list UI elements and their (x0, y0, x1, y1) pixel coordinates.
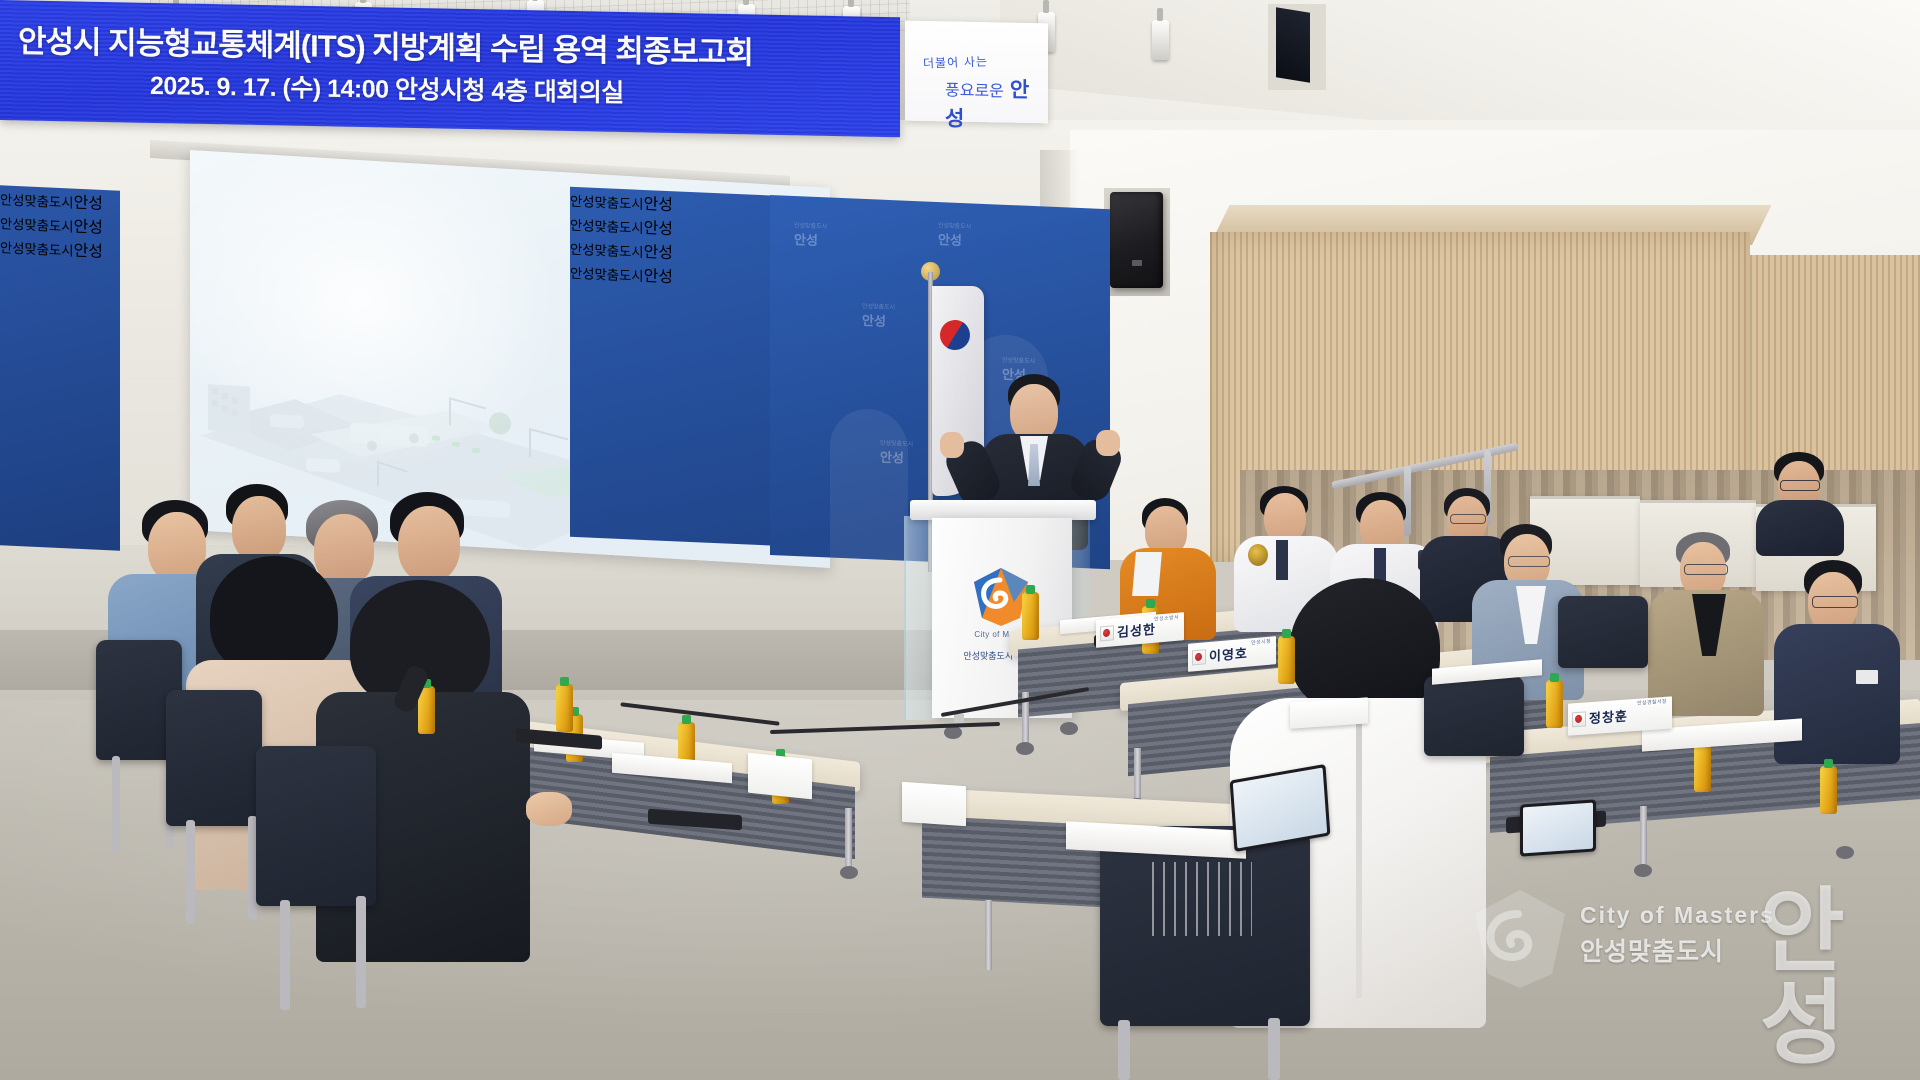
tablet-device (1520, 799, 1596, 856)
juice-bottle (1820, 766, 1837, 814)
chair (256, 746, 376, 906)
attendee-hair (210, 556, 338, 676)
track-light (1152, 20, 1169, 60)
chair-leg (356, 896, 366, 1008)
eyeglasses-icon (1450, 514, 1486, 524)
nameplate-role: 안성경찰서장 (1637, 698, 1667, 707)
podium-caster (944, 726, 962, 739)
chair-leg (186, 820, 195, 924)
backdrop-panel-left: 안성맞춤도시안성 안성맞춤도시안성 안성맞춤도시안성 (0, 185, 120, 550)
event-banner: 안성시 지능형교통체계(ITS) 지방계획 수립 용역 최종보고회 2025. … (0, 0, 900, 137)
wall-recess (1268, 4, 1326, 90)
table-caster (1836, 846, 1854, 859)
table-caster (840, 866, 858, 879)
nameplate-blank (902, 782, 966, 826)
juice-bottle (1278, 636, 1295, 684)
wall-speaker-icon (1110, 192, 1163, 288)
police-tie (1276, 540, 1288, 580)
banner-title: 안성시 지능형교통체계(ITS) 지방계획 수립 용역 최종보고회 (18, 16, 878, 75)
juice-bottle (556, 684, 573, 732)
police-badge-icon (1248, 544, 1268, 566)
chair-leg (112, 756, 120, 852)
juice-bottle (1694, 744, 1711, 792)
eyeglasses-icon (1780, 480, 1820, 491)
table-caster (1634, 864, 1652, 877)
slogan-line1: 더불어 사는 (923, 53, 989, 72)
table-leg (1640, 806, 1647, 870)
chair-leg (1268, 1018, 1280, 1080)
banner-subtitle: 2025. 9. 17. (수) 14:00 안성시청 4층 대회의실 (150, 66, 870, 113)
chair-right (1558, 596, 1648, 668)
podium-top-surface (910, 500, 1096, 520)
slogan-line2: 풍요로운 (945, 80, 1004, 100)
table-leg (1134, 748, 1141, 804)
attendee-hair (1290, 578, 1440, 714)
nameplate-name: 이영호 (1209, 646, 1248, 662)
juice-bottle (1546, 680, 1563, 728)
id-badge (1856, 670, 1878, 684)
chair (166, 690, 262, 826)
attendee-hand (526, 792, 572, 826)
juice-bottle (1022, 592, 1039, 640)
nameplate-role: 안성소방서 (1154, 614, 1179, 623)
chair-stripes (1152, 862, 1252, 936)
eyeglasses-icon (1684, 564, 1728, 575)
nameplate-blank (748, 753, 812, 800)
presenter-left-hand (940, 432, 964, 458)
emblem-icon (1100, 625, 1114, 641)
conference-photo: 안성시 지능형교통체계(ITS) 지방계획 수립 용역 최종보고회 2025. … (0, 0, 1920, 1080)
city-slogan-panel: 더불어 사는 풍요로운안성 (905, 21, 1048, 124)
table-leg (985, 900, 992, 970)
chair-leg (280, 900, 290, 1010)
presenter-right-hand (1096, 430, 1120, 456)
eyeglasses-icon (1508, 556, 1550, 567)
chair-right (1424, 676, 1524, 756)
nameplate-role: 안성시청 (1251, 638, 1271, 647)
podium-caster (1060, 722, 1078, 735)
emblem-icon (1192, 649, 1206, 665)
table-leg (845, 808, 852, 870)
stair-handrail-post (1404, 466, 1411, 536)
chair-leg (1118, 1020, 1130, 1080)
emblem-icon (1572, 711, 1586, 727)
table-caster (1016, 742, 1034, 755)
nameplate-name: 정창훈 (1589, 709, 1628, 725)
nameplate-blank (1290, 697, 1368, 728)
eyeglasses-icon (1812, 596, 1858, 608)
nameplate-name: 김성한 (1117, 622, 1156, 638)
